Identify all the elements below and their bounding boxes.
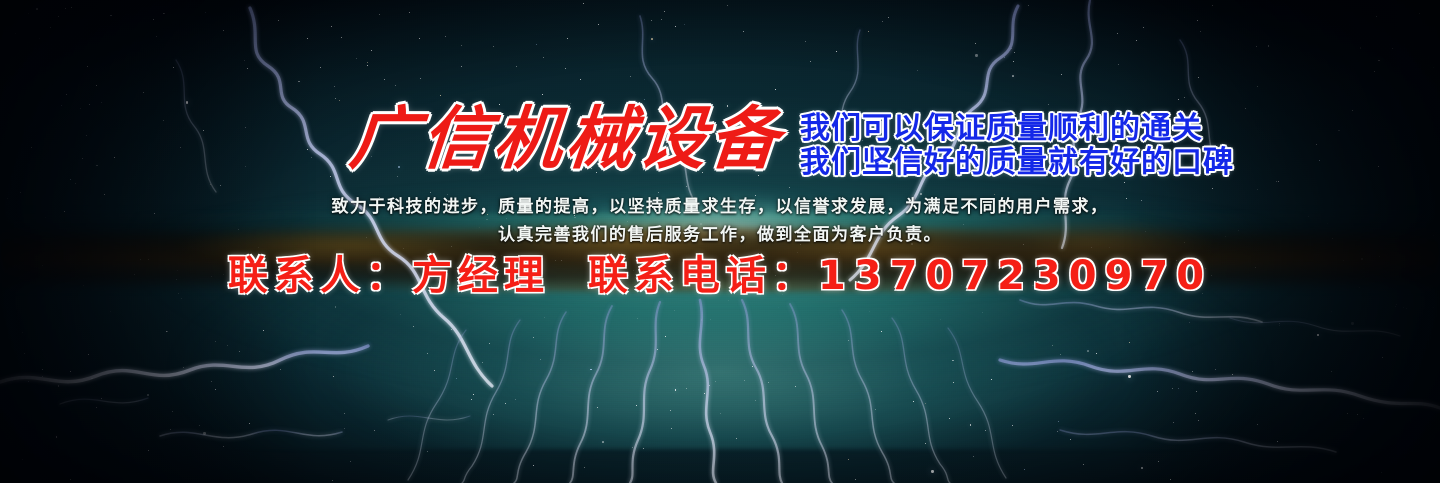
slogan-group: 我们可以保证质量顺利的通关 我们坚信好的质量就有好的口碑: [800, 112, 1234, 180]
contact-person-name: 方经理: [412, 253, 550, 299]
contact-phone-number[interactable]: 13707230970: [818, 253, 1212, 299]
slogan-line-2: 我们坚信好的质量就有好的口碑: [800, 146, 1234, 180]
description-line-2: 认真完善我们的售后服务工作，做到全面为客户负责。: [0, 224, 1440, 246]
brand-row: 广信机械设备 我们可以保证质量顺利的通关 我们坚信好的质量就有好的口碑: [350, 100, 1234, 180]
contact-row: 联系人：方经理联系电话：13707230970: [0, 253, 1440, 299]
contact-person-label: 联系人：: [228, 253, 412, 299]
slogan-line-1: 我们可以保证质量顺利的通关: [800, 112, 1234, 146]
promo-banner: 广信机械设备 我们可以保证质量顺利的通关 我们坚信好的质量就有好的口碑 致力于科…: [0, 0, 1440, 483]
description-line-1: 致力于科技的进步，质量的提高，以坚持质量求生存，以信誉求发展，为满足不同的用户需…: [0, 196, 1440, 218]
contact-phone-label: 联系电话：: [588, 253, 818, 299]
banner-content: 广信机械设备 我们可以保证质量顺利的通关 我们坚信好的质量就有好的口碑 致力于科…: [0, 0, 1440, 483]
brand-title: 广信机械设备: [347, 100, 786, 178]
